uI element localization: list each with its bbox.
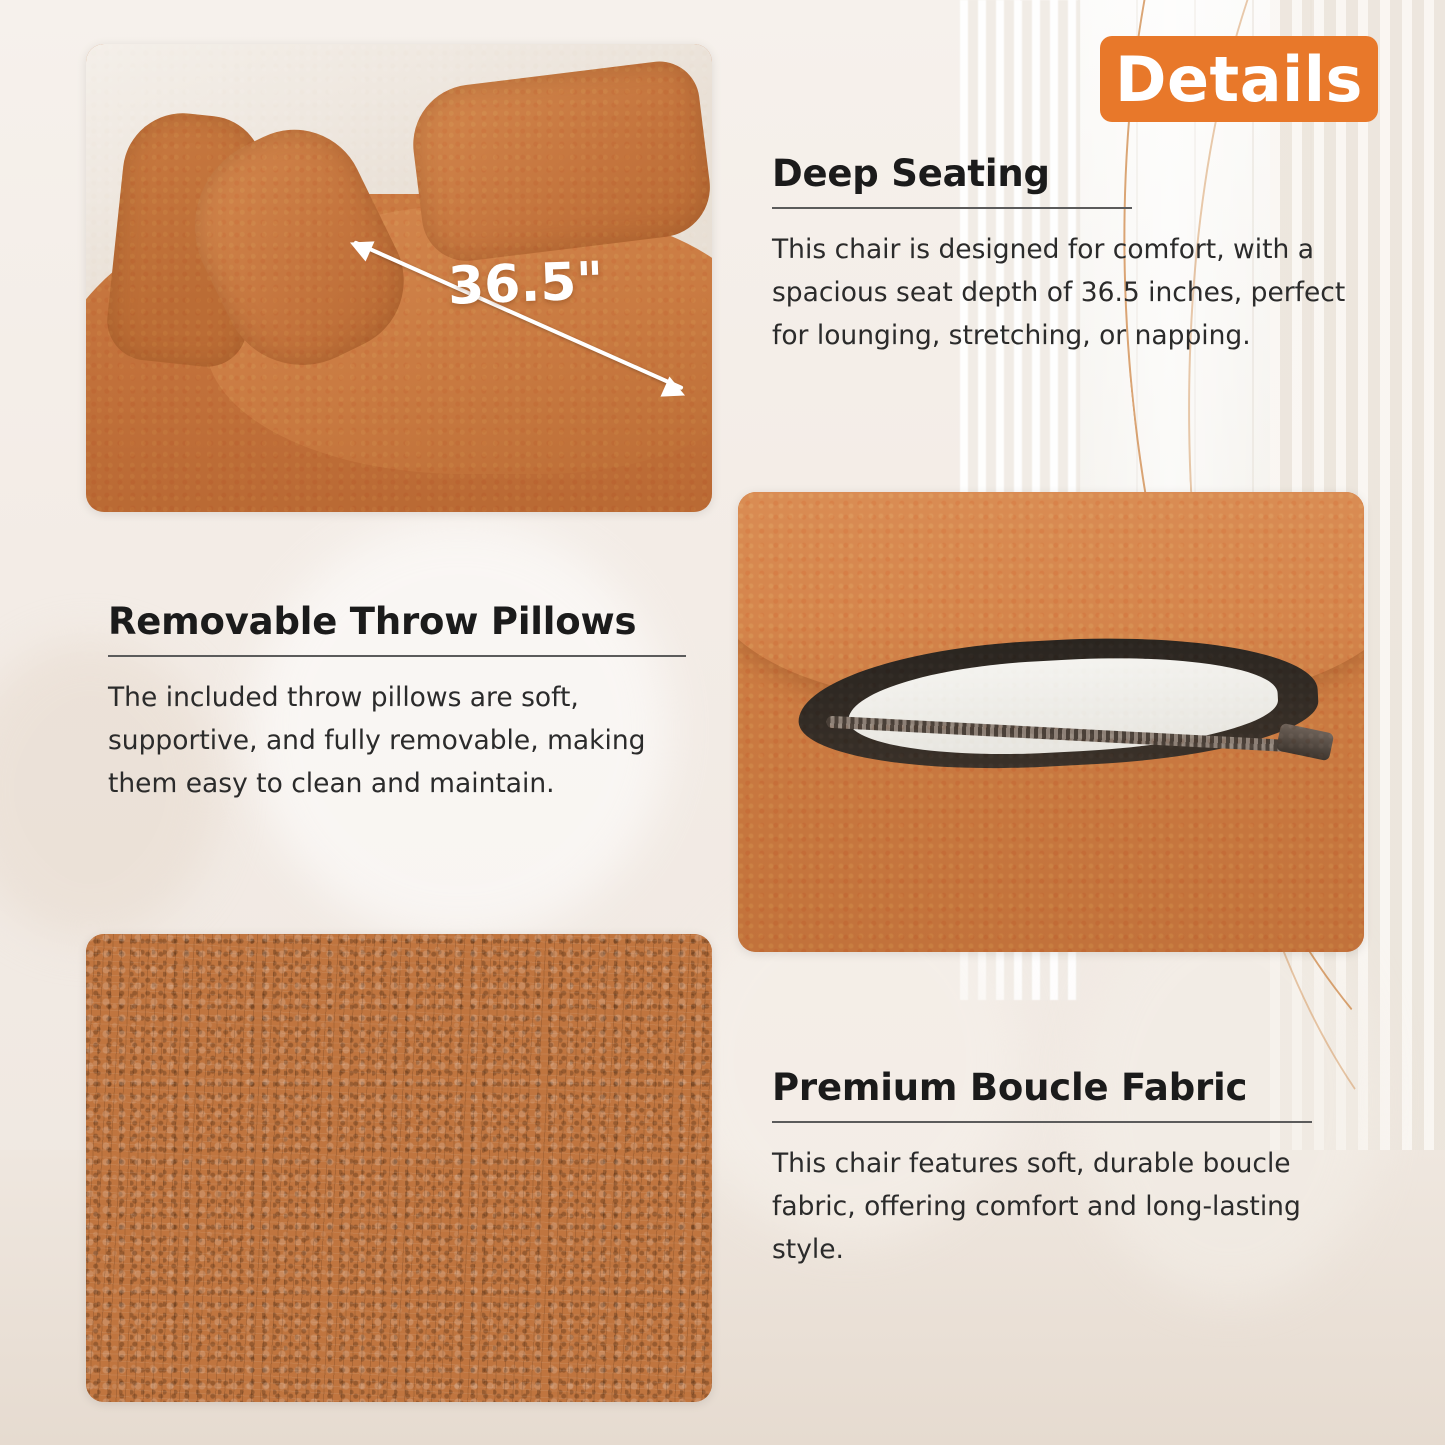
section-deep-seating: Deep Seating This chair is designed for …: [772, 152, 1362, 358]
details-page: Details 36.5" Deep Seating This chair is…: [0, 0, 1445, 1445]
boucle-fabric-texture: [86, 934, 712, 1402]
section-removable-throw-pillows: Removable Throw Pillows The included thr…: [108, 600, 708, 806]
boucle-texture-overlay: [86, 44, 712, 512]
section-title-premium-boucle-fabric: Premium Boucle Fabric: [772, 1066, 1352, 1121]
section-title-deep-seating: Deep Seating: [772, 152, 1362, 207]
fabric-closeup-photo: [86, 934, 712, 1402]
chair-measurement-photo: 36.5": [86, 44, 712, 512]
section-body-premium-boucle-fabric: This chair features soft, durable boucle…: [772, 1143, 1352, 1272]
section-body-removable-throw-pillows: The included throw pillows are soft, sup…: [108, 677, 708, 806]
boucle-texture-overlay: [738, 492, 1364, 952]
title-underline: [772, 1121, 1312, 1123]
title-underline: [772, 207, 1132, 209]
title-underline: [108, 655, 686, 657]
zipper-detail-photo: [738, 492, 1364, 952]
section-body-deep-seating: This chair is designed for comfort, with…: [772, 229, 1362, 358]
section-premium-boucle-fabric: Premium Boucle Fabric This chair feature…: [772, 1066, 1352, 1272]
details-badge-label: Details: [1115, 43, 1363, 116]
section-title-removable-throw-pillows: Removable Throw Pillows: [108, 600, 708, 655]
details-badge: Details: [1100, 36, 1378, 122]
measurement-label: 36.5": [447, 251, 604, 316]
